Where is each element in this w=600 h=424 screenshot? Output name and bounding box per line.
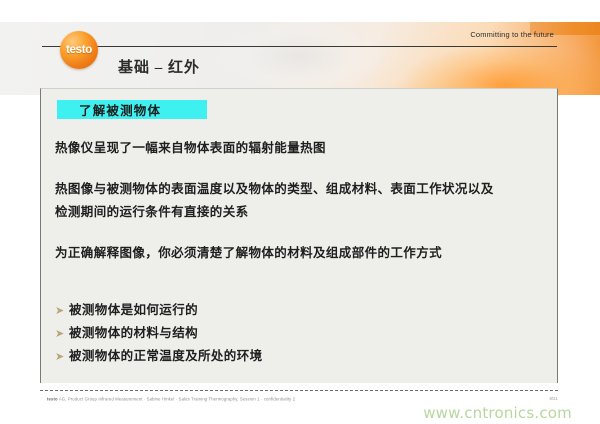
list-item: ➤ 被测物体的材料与结构 [55,325,547,342]
arrow-bullet-icon: ➤ [55,348,69,365]
footer-detail: AG, Product Group Infrared Measurement ·… [58,396,295,402]
paragraph-line: 热图像与被测物体的表面温度以及物体的类型、组成材料、表面工作状况以及 [55,178,547,201]
list-item-label: 被测物体的材料与结构 [69,325,198,342]
header-rule [42,46,557,47]
list-item: ➤ 被测物体的正常温度及所处的环境 [55,348,547,365]
testo-logo-text: testo [60,31,98,69]
list-item-label: 被测物体的正常温度及所处的环境 [69,348,263,365]
section-banner-label: 了解被测物体 [79,100,161,119]
testo-logo: testo [60,31,98,69]
slide-header: Committing to the future testo 基础 – 红外 [0,0,600,95]
paragraph: 热图像与被测物体的表面温度以及物体的类型、组成材料、表面工作状况以及 检测期间的… [55,178,547,224]
arrow-bullet-icon: ➤ [55,325,69,342]
section-banner: 了解被测物体 [57,100,207,119]
footer-text: testo AG, Product Group Infrared Measure… [47,396,295,402]
paragraph-line: 为正确解释图像，你必须清楚了解物体的材料及组成部件的工作方式 [55,242,547,265]
site-watermark: www.cntronics.com [423,404,572,422]
paragraph-line: 检测期间的运行条件有直接的关系 [55,201,547,224]
slide-content-panel: 了解被测物体 热像仪呈现了一幅来自物体表面的辐射能量热图 热图像与被测物体的表面… [40,88,558,383]
paragraph: 为正确解释图像，你必须清楚了解物体的材料及组成部件的工作方式 [55,242,547,265]
slide-title: 基础 – 红外 [118,56,200,77]
paragraph-line: 热像仪呈现了一幅来自物体表面的辐射能量热图 [55,137,547,160]
footer-brand: testo [47,396,58,402]
footer-divider [40,390,558,391]
body-paragraphs: 热像仪呈现了一幅来自物体表面的辐射能量热图 热图像与被测物体的表面温度以及物体的… [55,137,547,281]
list-item-label: 被测物体是如何运行的 [69,302,198,319]
list-item: ➤ 被测物体是如何运行的 [55,302,547,319]
arrow-bullet-icon: ➤ [55,302,69,319]
slide: Committing to the future testo 基础 – 红外 了… [0,0,600,424]
paragraph: 热像仪呈现了一幅来自物体表面的辐射能量热图 [55,137,547,160]
company-tagline: Committing to the future [470,30,554,39]
slide-page-number: 8/21 [549,396,558,401]
bullet-list: ➤ 被测物体是如何运行的 ➤ 被测物体的材料与结构 ➤ 被测物体的正常温度及所处… [55,302,547,371]
